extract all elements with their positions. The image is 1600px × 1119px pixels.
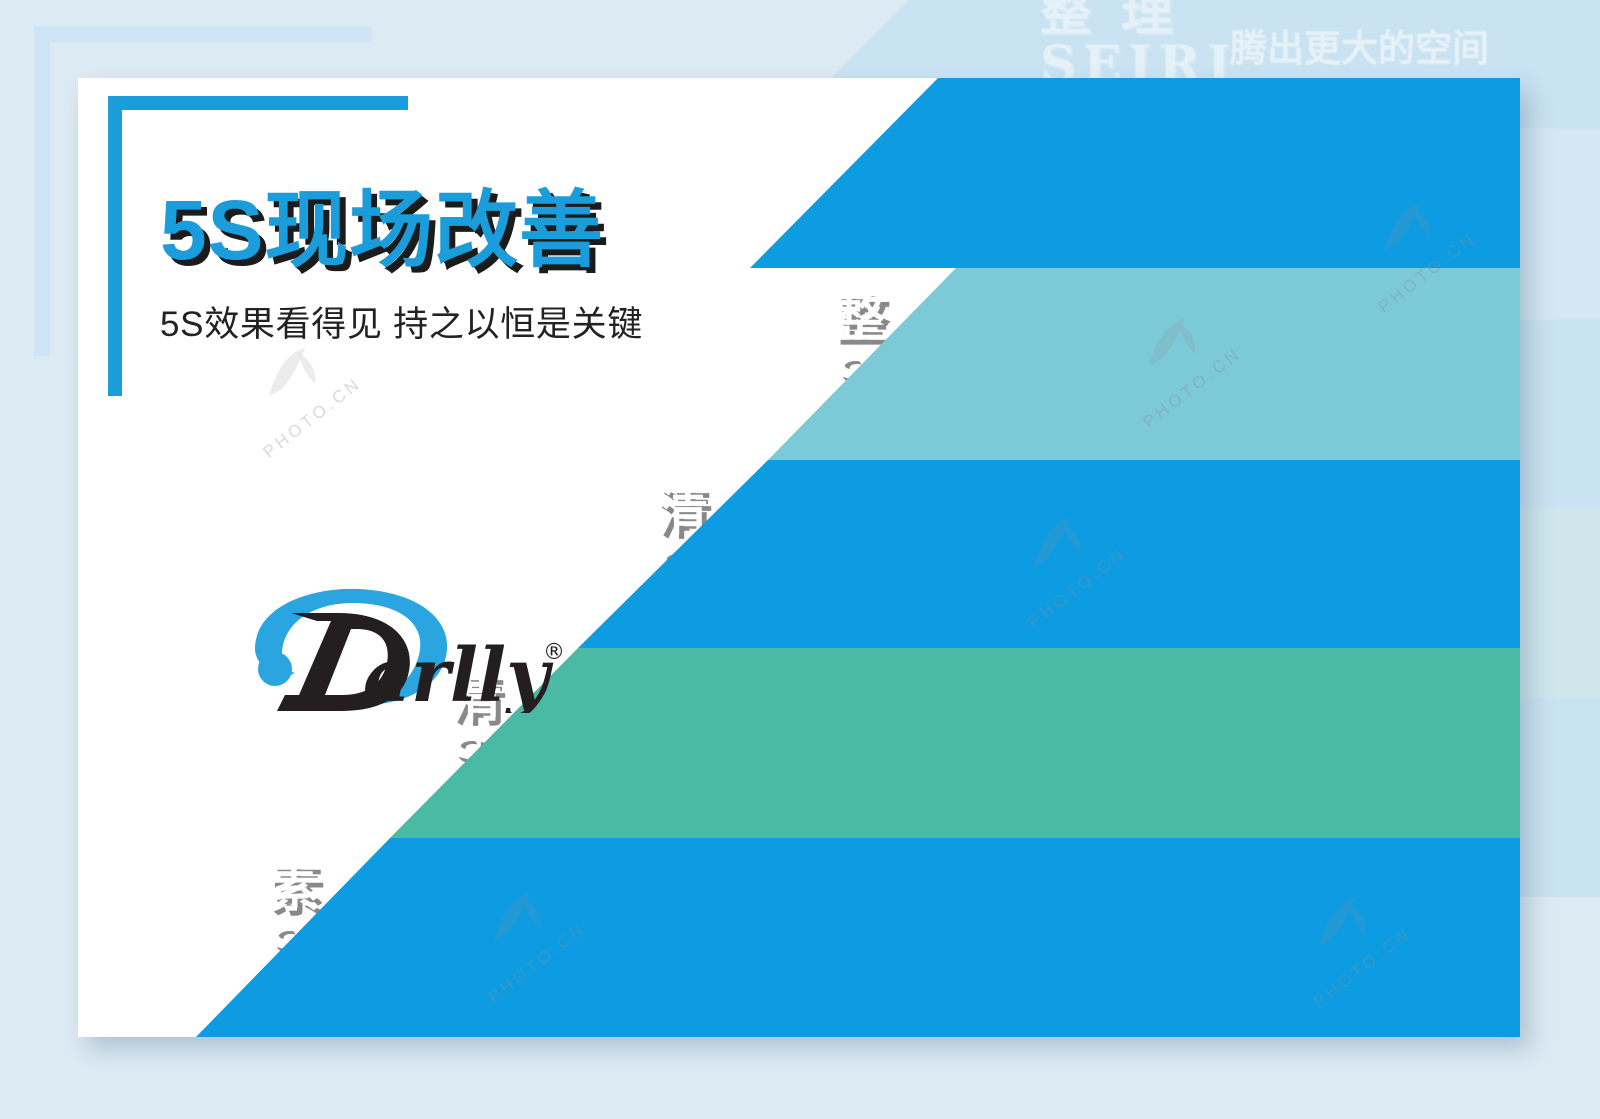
band-shape-seiso — [578, 460, 1520, 648]
svg-text:®: ® — [543, 640, 565, 665]
band-shape-seiri — [750, 78, 1520, 268]
band-shape-seiton — [768, 268, 1520, 460]
darlly-logo-icon: arlly ® — [213, 583, 593, 713]
brand-logo: arlly ® — [213, 583, 593, 713]
headline-block: 5S现场改善 5S效果看得见 持之以恒是关键 — [160, 188, 643, 347]
page-title: 5S现场改善 — [160, 188, 643, 274]
poster-card: 5S现场改善 5S效果看得见 持之以恒是关键 arlly ® 整 理SEIRI腾… — [78, 78, 1520, 1037]
svg-text:arlly: arlly — [363, 633, 554, 713]
page-subtitle: 5S效果看得见 持之以恒是关键 — [160, 296, 643, 347]
band-shape-shitsuke — [196, 838, 1520, 1037]
ghost-band-description-seiri: 腾出更大的空间 — [1230, 18, 1489, 72]
ghost-band-label-seiri: 整 理 — [1040, 0, 1180, 45]
